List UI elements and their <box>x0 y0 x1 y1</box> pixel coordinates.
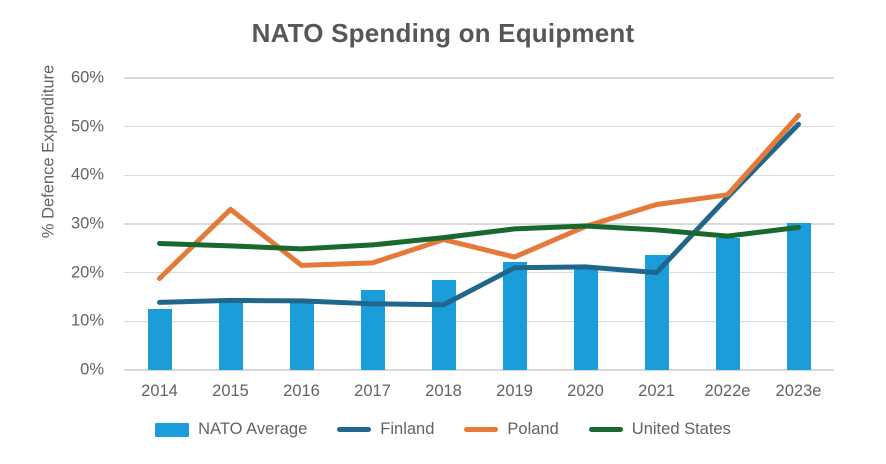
x-axis-tick-label: 2020 <box>546 382 626 401</box>
legend-label: Poland <box>507 420 558 439</box>
x-axis-tick-label: 2021 <box>617 382 697 401</box>
legend-item[interactable]: Finland <box>337 420 434 439</box>
x-axis-tick-label: 2015 <box>191 382 271 401</box>
x-axis-tick-label: 2023e <box>759 382 839 401</box>
chart-legend: NATO AverageFinlandPolandUnited States <box>0 420 886 439</box>
line-series-group <box>124 78 834 370</box>
line-series <box>160 124 799 305</box>
y-axis-tick-label: 60% <box>34 69 104 88</box>
legend-bar-swatch-icon <box>155 423 189 437</box>
legend-label: NATO Average <box>198 420 307 439</box>
y-axis-tick-label: 20% <box>34 263 104 282</box>
y-axis-tick-label: 0% <box>34 361 104 380</box>
y-axis-tick-label: 40% <box>34 166 104 185</box>
legend-item[interactable]: Poland <box>464 420 558 439</box>
legend-label: Finland <box>380 420 434 439</box>
x-axis-tick-label: 2017 <box>333 382 413 401</box>
plot-area <box>124 78 834 370</box>
y-axis-tick-label: 30% <box>34 215 104 234</box>
legend-item[interactable]: United States <box>589 420 731 439</box>
legend-line-swatch-icon <box>337 427 371 432</box>
chart-title: NATO Spending on Equipment <box>0 18 886 49</box>
chart-container: NATO Spending on Equipment % Defence Exp… <box>0 0 886 464</box>
legend-line-swatch-icon <box>589 427 623 432</box>
legend-item[interactable]: NATO Average <box>155 420 307 439</box>
legend-label: United States <box>632 420 731 439</box>
x-axis-tick-label: 2022e <box>688 382 768 401</box>
x-axis-tick-label: 2014 <box>120 382 200 401</box>
y-axis-tick-label: 10% <box>34 312 104 331</box>
legend-line-swatch-icon <box>464 427 498 432</box>
x-axis-tick-label: 2019 <box>475 382 555 401</box>
y-axis-tick-label: 50% <box>34 117 104 136</box>
y-axis-tick-labels: 0%10%20%30%40%50%60% <box>44 78 114 370</box>
x-axis-tick-label: 2018 <box>404 382 484 401</box>
line-series <box>160 115 799 278</box>
x-axis-tick-label: 2016 <box>262 382 342 401</box>
